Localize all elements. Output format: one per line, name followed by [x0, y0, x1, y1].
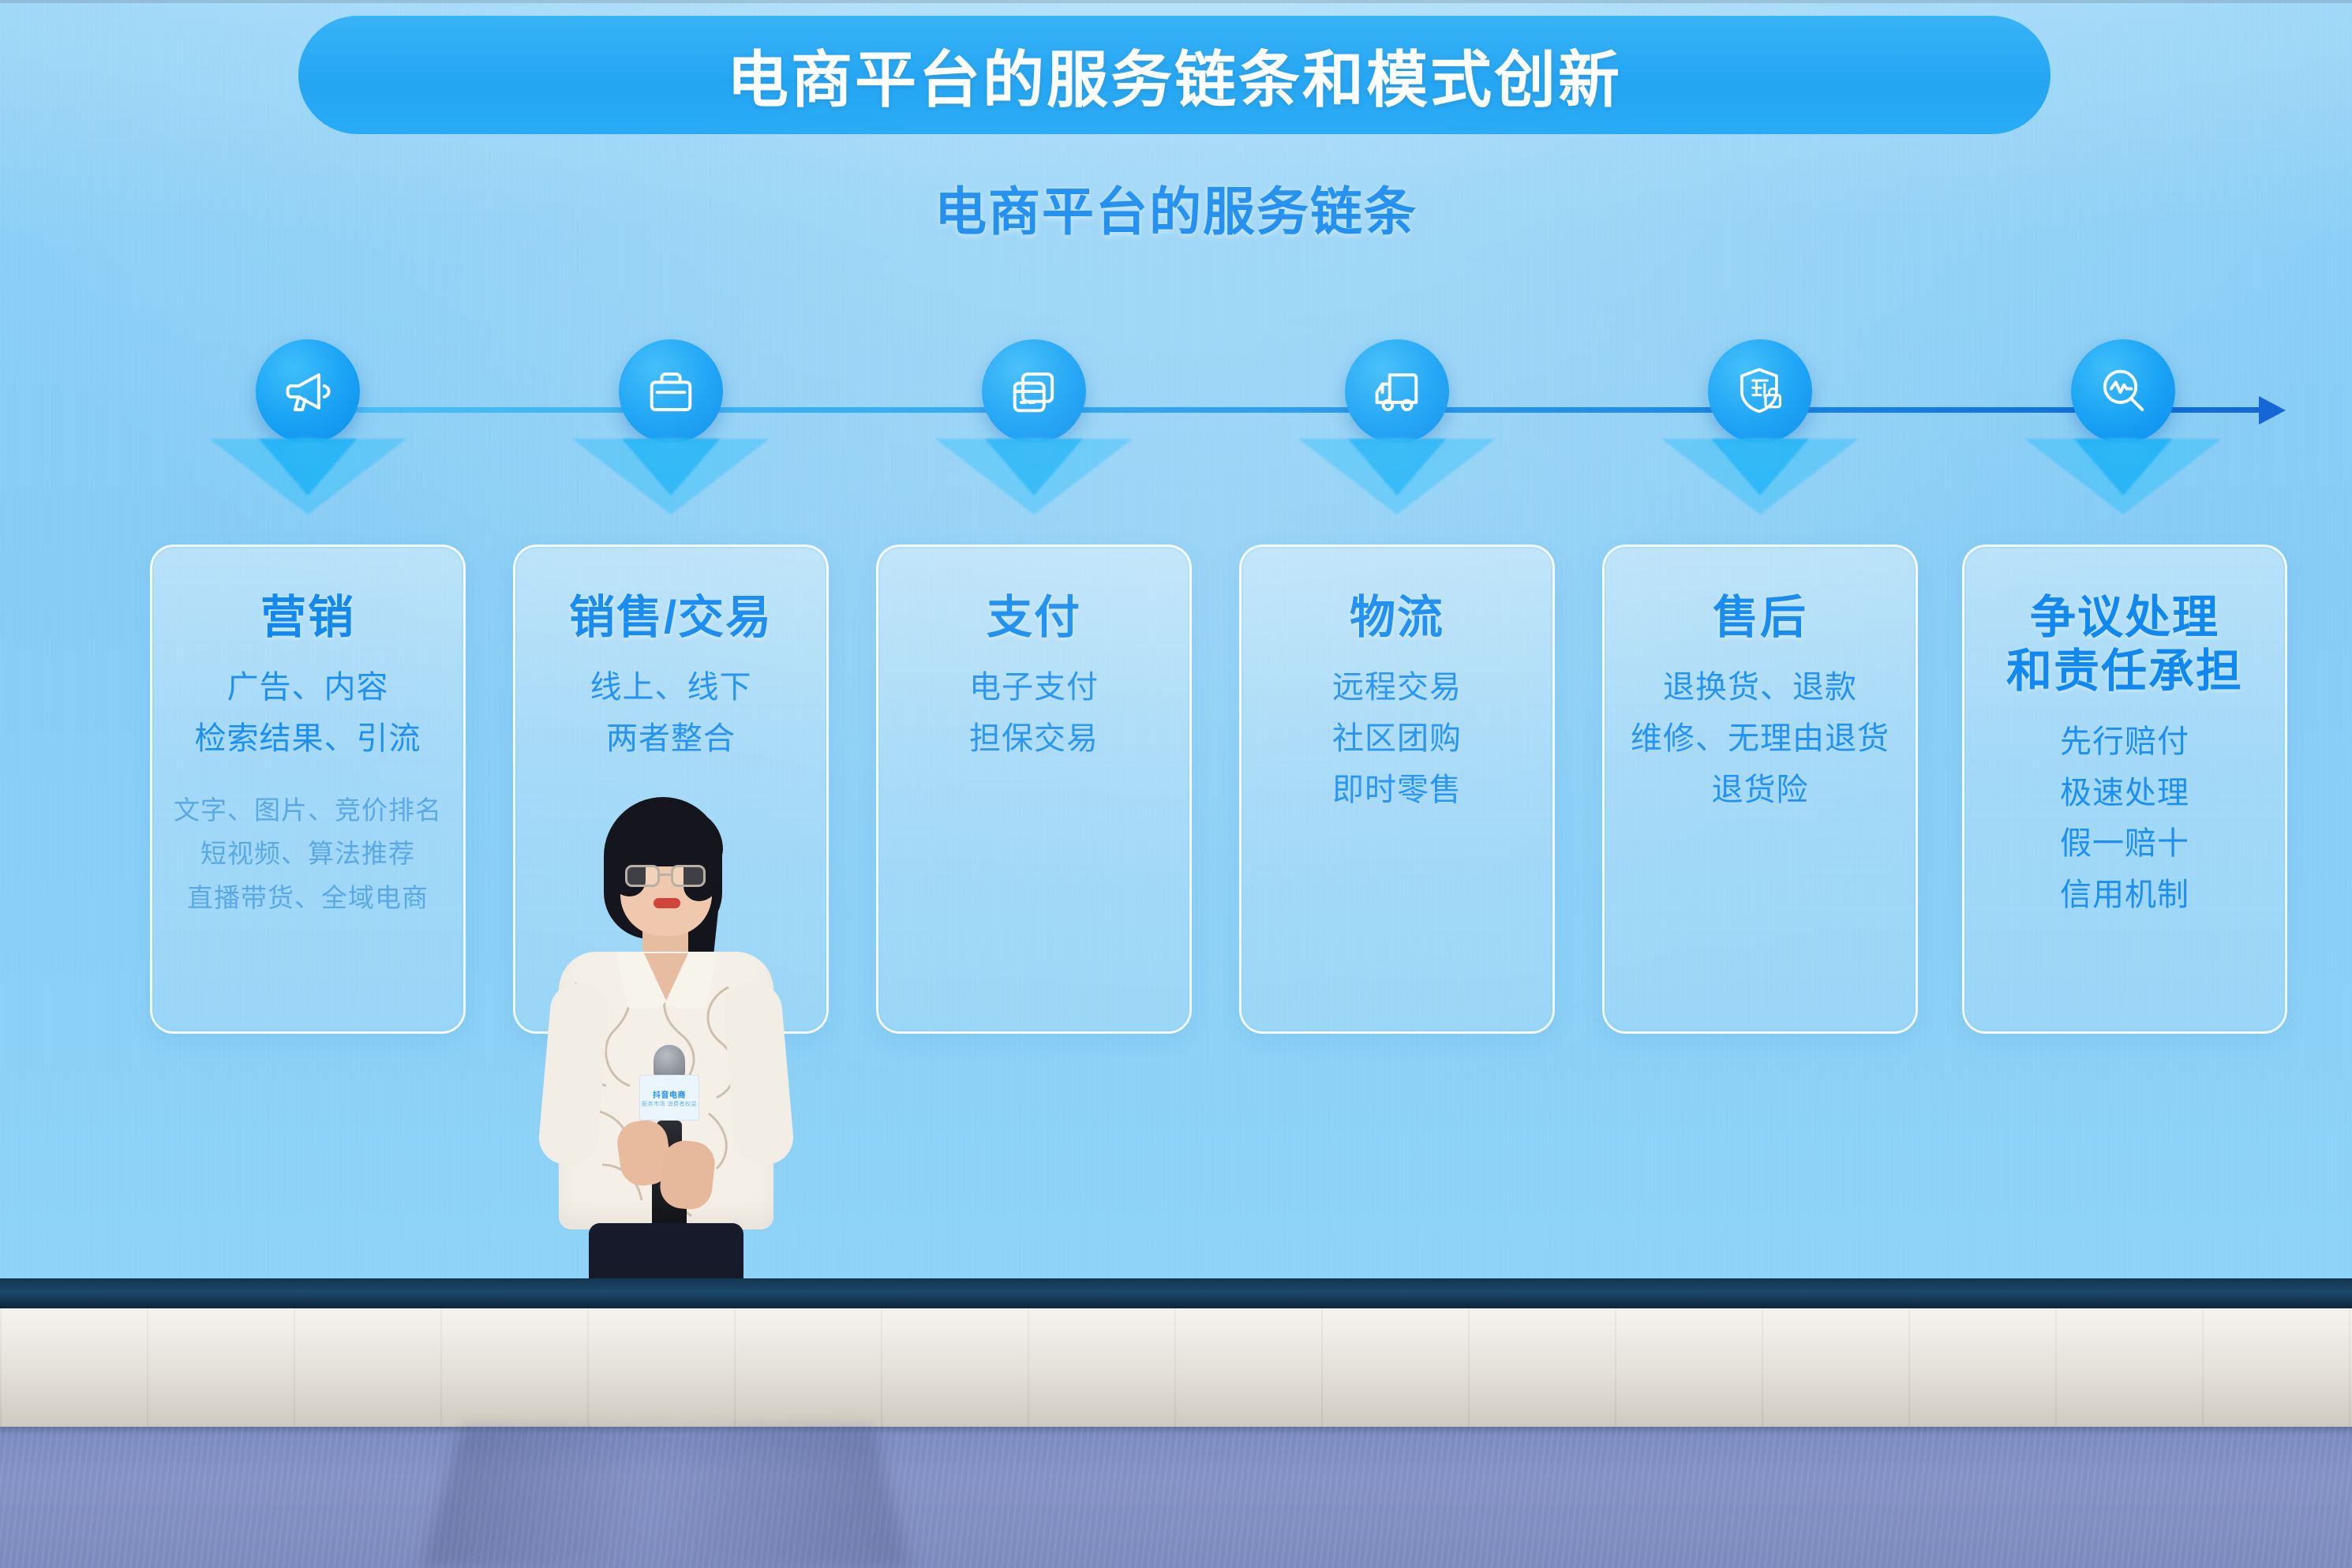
card-subline: 文字、图片、竞价排名 [163, 788, 452, 832]
card-line: 退换货、退款 [1616, 662, 1904, 713]
service-chain-cards: 营销 广告、内容 检索结果、引流 文字、图片、竞价排名 短视频、算法推荐 直播带… [0, 544, 2352, 1034]
card-line: 假一赔十 [1976, 818, 2274, 870]
chevron-down-icon [572, 439, 770, 526]
image-top-edge [0, 0, 2352, 3]
mic-flag-line-2: 服务市场 消费者权益 [642, 1100, 697, 1108]
floor-shadow-left [421, 1427, 667, 1568]
credit-cards-icon [982, 339, 1086, 443]
card-title: 售后 [1616, 591, 1904, 645]
card-payment: 支付 电子支付 担保交易 [876, 544, 1192, 1034]
card-logistics: 物流 远程交易 社区团购 即时零售 [1239, 544, 1555, 1034]
card-title: 物流 [1253, 591, 1541, 645]
card-line: 广告、内容 [163, 662, 452, 713]
mic-flag-line-1: 抖音电商 [653, 1088, 686, 1100]
card-line: 退货险 [1616, 765, 1904, 816]
timeline-node-aftersales [1708, 339, 1812, 443]
briefcase-icon [619, 339, 723, 443]
card-title: 争议处理 和责任承担 [1976, 591, 2274, 699]
megaphone-icon [256, 339, 360, 443]
timeline-axis [284, 407, 2265, 413]
floor-shadow-right [638, 1427, 910, 1568]
card-line: 社区团购 [1253, 713, 1541, 765]
card-marketing: 营销 广告、内容 检索结果、引流 文字、图片、竞价排名 短视频、算法推荐 直播带… [150, 544, 466, 1034]
card-line: 线上、线下 [526, 662, 815, 713]
glasses-lens-right [671, 865, 706, 887]
timeline-node-dispute [2071, 339, 2175, 443]
card-line: 两者整合 [526, 713, 815, 765]
timeline-arrow-icon [2259, 396, 2286, 425]
card-line: 即时零售 [1253, 765, 1541, 816]
shield-aftersales-icon [1708, 339, 1812, 443]
chevron-down-icon [935, 439, 1133, 526]
card-line: 维修、无理由退货 [1616, 713, 1904, 765]
stage-trim-bar [0, 1278, 2352, 1308]
card-dispute-resolution: 争议处理 和责任承担 先行赔付 极速处理 假一赔十 信用机制 [1962, 544, 2287, 1034]
lips [654, 898, 680, 908]
delivery-truck-icon [1345, 339, 1449, 443]
card-title: 支付 [889, 591, 1178, 645]
card-line: 远程交易 [1253, 662, 1541, 713]
glasses-lens-left [625, 865, 660, 887]
chevron-down-icon [209, 439, 406, 526]
chevron-down-icon [2024, 439, 2222, 526]
slide-subtitle: 电商平台的服务链条 [0, 170, 2352, 245]
card-subline: 短视频、算法推荐 [163, 832, 452, 875]
slide-title: 电商平台的服务链条和模式创新 [727, 31, 1622, 119]
presentation-screen: 电商平台的服务链条和模式创新 电商平台的服务链条 [0, 0, 2352, 1278]
card-line: 信用机制 [1976, 870, 2274, 921]
microphone-flag-badge: 抖音电商 服务市场 消费者权益 [639, 1075, 699, 1121]
card-title: 销售/交易 [526, 591, 815, 645]
card-line: 担保交易 [889, 713, 1178, 765]
card-line: 检索结果、引流 [163, 713, 452, 765]
card-title: 营销 [163, 591, 452, 645]
card-line: 极速处理 [1976, 768, 2274, 819]
chevron-down-icon [1661, 439, 1859, 526]
stage-front-panels [0, 1308, 2352, 1427]
card-line: 电子支付 [889, 662, 1178, 713]
card-subline: 直播带货、全域电商 [163, 876, 452, 919]
card-line: 先行赔付 [1976, 717, 2274, 768]
chevron-down-icon [1298, 439, 1496, 526]
timeline-node-payment [982, 339, 1086, 443]
timeline-node-marketing [256, 339, 360, 443]
timeline-node-logistics [1345, 339, 1449, 443]
conference-stage-photo: 电商平台的服务链条和模式创新 电商平台的服务链条 [0, 0, 2352, 1568]
slide-title-bar: 电商平台的服务链条和模式创新 [298, 16, 2051, 134]
card-after-sales: 售后 退换货、退款 维修、无理由退货 退货险 [1602, 544, 1918, 1034]
stage-carpet [0, 1427, 2352, 1568]
timeline-node-sales [619, 339, 723, 443]
glasses-bridge [660, 874, 671, 876]
magnifier-waveform-icon [2071, 339, 2175, 443]
